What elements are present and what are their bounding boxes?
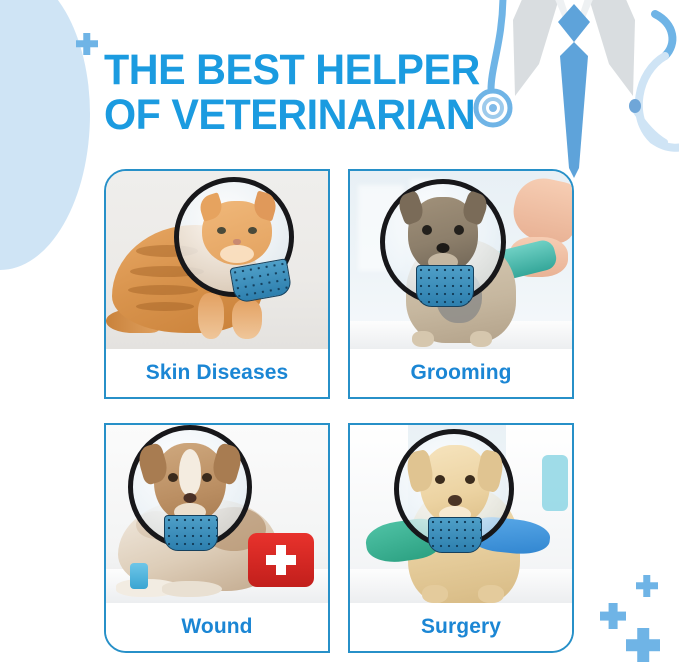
plus-icon-title [76, 33, 98, 55]
card-label-skin-diseases: Skin Diseases [106, 349, 328, 397]
yorkie-face [408, 197, 478, 273]
title-line-1: THE BEST HELPER [104, 48, 507, 93]
cat-face [202, 201, 272, 265]
card-photo-skin-diseases [106, 171, 328, 349]
paw-bandage [130, 563, 148, 589]
puppy-face [420, 445, 490, 525]
groomer-hand [508, 173, 572, 247]
feature-card-grid: Skin Diseases [104, 169, 584, 649]
card-photo-grooming [350, 171, 572, 349]
infographic-page: THE BEST HELPER OF VETERINARIAN [0, 0, 679, 669]
page-title: THE BEST HELPER OF VETERINARIAN [104, 48, 524, 138]
card-surgery[interactable]: Surgery [348, 423, 574, 653]
card-photo-wound [106, 425, 328, 603]
card-grooming[interactable]: Grooming [348, 169, 574, 399]
plus-icon-corner-medium [600, 603, 626, 629]
title-line-2: OF VETERINARIAN [104, 93, 507, 138]
first-aid-kit-icon [248, 533, 314, 587]
plus-icon-corner-small [636, 575, 658, 597]
plus-icon-corner-large [626, 628, 660, 662]
card-skin-diseases[interactable]: Skin Diseases [104, 169, 330, 399]
card-label-grooming: Grooming [350, 349, 572, 397]
card-photo-surgery [350, 425, 572, 603]
card-wound[interactable]: Wound [104, 423, 330, 653]
dog-face [154, 443, 226, 523]
stethoscope-earpiece [629, 99, 641, 113]
card-label-wound: Wound [106, 603, 328, 651]
stethoscope-tube-right [655, 14, 672, 56]
card-label-surgery: Surgery [350, 603, 572, 651]
